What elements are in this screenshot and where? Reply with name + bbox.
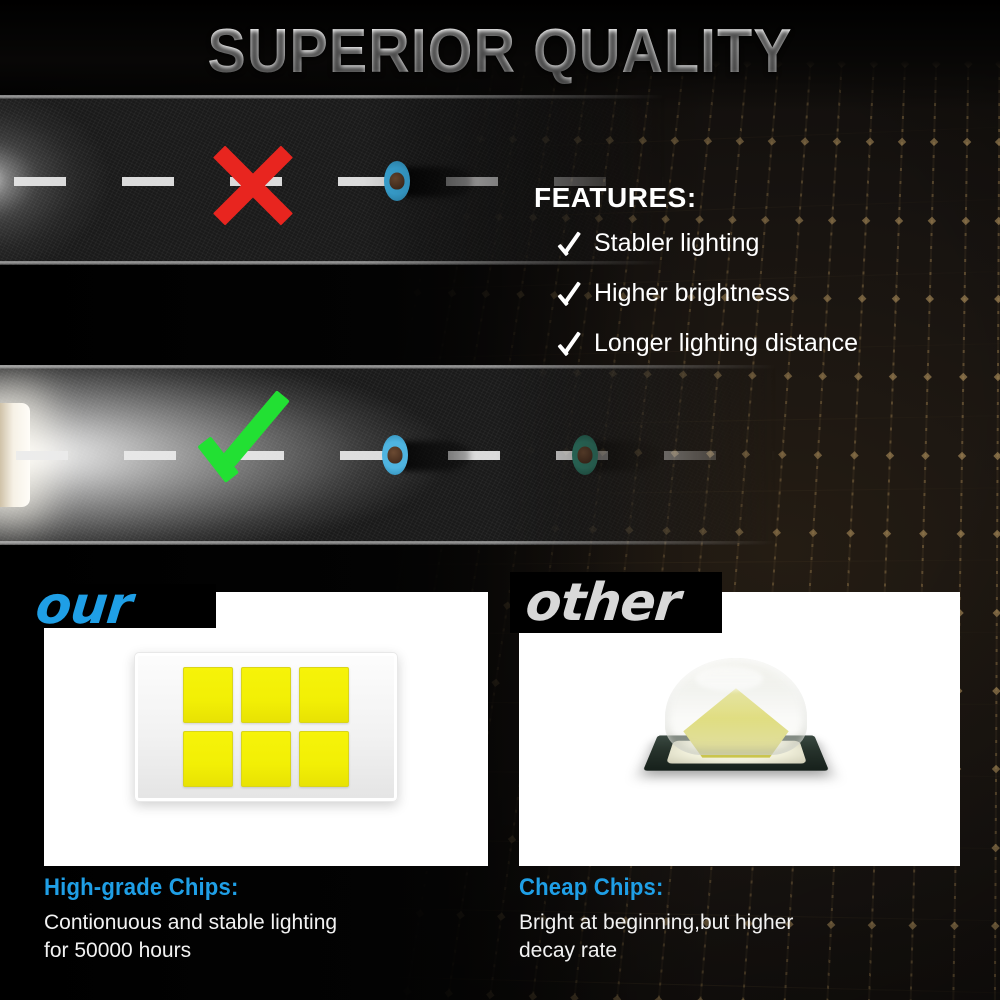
road-figure [572, 435, 598, 475]
led-dome-highlight [695, 666, 763, 691]
led-chip [299, 667, 349, 723]
led-chip [241, 731, 291, 787]
feature-item-longer-lighting-distance: Longer lighting distance [556, 328, 964, 358]
smd-dome-led-icon [651, 656, 821, 780]
other-banner-label: other [523, 577, 682, 629]
other-product-card [519, 592, 960, 866]
check-icon [556, 278, 586, 308]
road-edge-line-top [0, 95, 700, 99]
our-caption-line1: Contionuous and stable lighting [44, 909, 494, 937]
feature-label: Stabler lighting [594, 229, 759, 257]
our-caption: High-grade Chips: Contionuous and stable… [44, 874, 494, 965]
road-edge-line-bottom [0, 541, 800, 545]
other-banner: other [510, 572, 722, 633]
led-chip [241, 667, 291, 723]
features-heading: FEATURES: [534, 182, 964, 214]
feature-label: Longer lighting distance [594, 329, 858, 357]
red-x-icon [205, 143, 301, 239]
page-title: SUPERIOR QUALITY [35, 18, 965, 86]
led-chip [183, 731, 233, 787]
led-chip [183, 667, 233, 723]
road-photo-good [0, 365, 800, 545]
poster-canvas: SUPERIOR QUALITY [0, 0, 1000, 1000]
check-icon [556, 228, 586, 258]
our-banner-label: our [33, 580, 134, 632]
led-chip [299, 731, 349, 787]
check-icon [556, 328, 586, 358]
road-figure [384, 161, 410, 201]
other-caption-line2: decay rate [519, 937, 969, 965]
feature-item-higher-brightness: Higher brightness [556, 278, 964, 308]
other-caption-line1: Bright at beginning,but higher [519, 909, 969, 937]
road-figure [382, 435, 408, 475]
our-caption-line2: for 50000 hours [44, 937, 494, 965]
green-check-icon [200, 399, 330, 509]
our-caption-title: High-grade Chips: [44, 874, 458, 902]
feature-item-stabler-lighting: Stabler lighting [556, 228, 964, 258]
features-section: FEATURES: Stabler lighting Higher bright… [534, 182, 964, 378]
other-caption-title: Cheap Chips: [519, 874, 933, 902]
feature-label: Higher brightness [594, 279, 790, 307]
cob-led-module-icon [134, 652, 398, 802]
our-banner: our [20, 584, 216, 628]
other-caption: Cheap Chips: Bright at beginning,but hig… [519, 874, 969, 965]
